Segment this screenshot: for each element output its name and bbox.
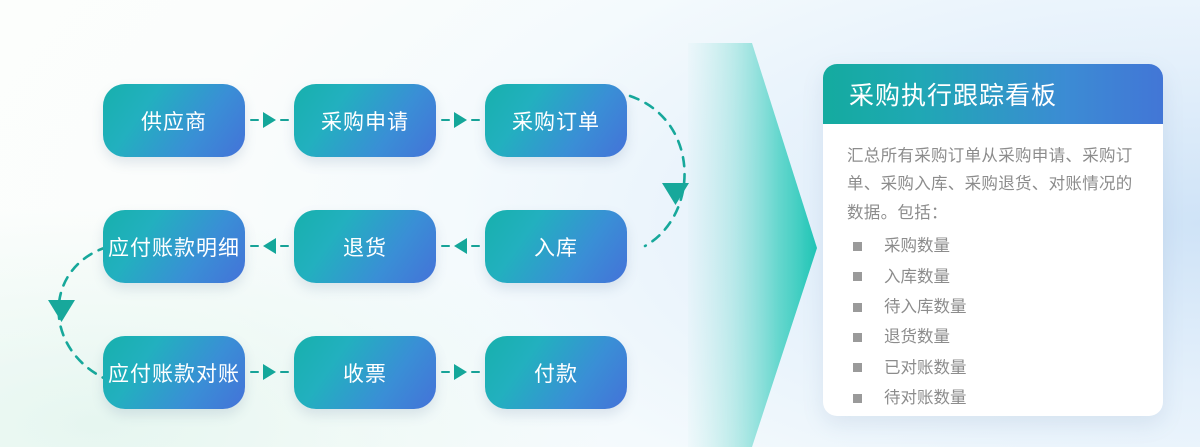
list-item: 退货数量: [847, 322, 1141, 352]
flow-node-purchase-request[interactable]: 采购申请: [294, 84, 436, 157]
card-body: 汇总所有采购订单从采购申请、采购订单、采购入库、采购退货、对账情况的数据。包括：…: [823, 124, 1163, 416]
arc-right-arrowhead: [662, 183, 689, 205]
list-item: 待入库数量: [847, 292, 1141, 322]
list-item: 采购数量: [847, 231, 1141, 261]
flow-node-payable-detail[interactable]: 应付账款明细: [103, 210, 245, 283]
connector-row3-1: [249, 364, 290, 380]
card-description: 汇总所有采购订单从采购申请、采购订单、采购入库、采购退货、对账情况的数据。包括：: [847, 142, 1141, 227]
connector-dash: [471, 119, 480, 121]
square-bullet-icon: [853, 303, 862, 312]
flow-node-invoice-receipt[interactable]: 收票: [294, 336, 436, 409]
card-header: 采购执行跟踪看板: [823, 64, 1163, 124]
flow-node-label: 应付账款明细: [108, 232, 240, 262]
arc-left-arrowhead: [48, 300, 75, 322]
list-item: 已对账数量: [847, 353, 1141, 383]
flow-node-payment[interactable]: 付款: [485, 336, 627, 409]
card-title: 采购执行跟踪看板: [849, 76, 1057, 112]
arrow-left-icon: [454, 238, 467, 254]
flow-node-label: 应付账款对账: [108, 358, 240, 388]
flow-node-return[interactable]: 退货: [294, 210, 436, 283]
connector-row2-2: [440, 238, 481, 254]
metric-label: 已对账数量: [884, 354, 967, 382]
connector-dash: [250, 245, 259, 247]
metric-label: 待入库数量: [884, 293, 967, 321]
arrow-right-icon: [263, 364, 276, 380]
connector-dash: [441, 245, 450, 247]
square-bullet-icon: [853, 333, 862, 342]
connector-row3-2: [440, 364, 481, 380]
flow-node-label: 付款: [534, 358, 578, 388]
square-bullet-icon: [853, 394, 862, 403]
square-bullet-icon: [853, 242, 862, 251]
metric-list: 采购数量 入库数量 待入库数量 退货数量 已对账数量: [847, 231, 1141, 413]
flow-node-label: 退货: [343, 232, 387, 262]
flow-node-label: 收票: [343, 358, 387, 388]
square-bullet-icon: [853, 272, 862, 281]
connector-dash: [250, 119, 259, 121]
process-flow: 供应商 采购申请 采购订单 应付账款明细 退货: [0, 0, 700, 447]
arrow-right-icon: [454, 112, 467, 128]
connector-dash: [441, 119, 450, 121]
connector-dash: [280, 119, 289, 121]
connector-row1-2: [440, 112, 481, 128]
flow-node-label: 入库: [534, 232, 578, 262]
flow-node-label: 采购订单: [512, 106, 600, 136]
connector-dash: [471, 371, 480, 373]
square-bullet-icon: [853, 363, 862, 372]
metric-label: 入库数量: [884, 263, 950, 291]
dashboard-info-card: 采购执行跟踪看板 汇总所有采购订单从采购申请、采购订单、采购入库、采购退货、对账…: [823, 64, 1163, 416]
diagram-canvas: 供应商 采购申请 采购订单 应付账款明细 退货: [0, 0, 1200, 447]
flow-node-inbound[interactable]: 入库: [485, 210, 627, 283]
arc-right-path: [630, 96, 685, 246]
metric-label: 采购数量: [884, 232, 950, 260]
metric-label: 退货数量: [884, 323, 950, 351]
arrow-right-icon: [454, 364, 467, 380]
connector-row1-1: [249, 112, 290, 128]
list-item: 入库数量: [847, 262, 1141, 292]
connector-dash: [280, 371, 289, 373]
arrow-right-icon: [263, 112, 276, 128]
connector-dash: [280, 245, 289, 247]
flow-node-label: 供应商: [141, 106, 207, 136]
connector-row2-1: [249, 238, 290, 254]
list-item: 待对账数量: [847, 383, 1141, 413]
flow-node-label: 采购申请: [321, 106, 409, 136]
connector-dash: [441, 371, 450, 373]
arrow-left-icon: [263, 238, 276, 254]
connector-dash: [471, 245, 480, 247]
flow-node-payable-reconciliation[interactable]: 应付账款对账: [103, 336, 245, 409]
flow-node-purchase-order[interactable]: 采购订单: [485, 84, 627, 157]
flow-node-supplier[interactable]: 供应商: [103, 84, 245, 157]
metric-label: 待对账数量: [884, 384, 967, 412]
connector-dash: [250, 371, 259, 373]
